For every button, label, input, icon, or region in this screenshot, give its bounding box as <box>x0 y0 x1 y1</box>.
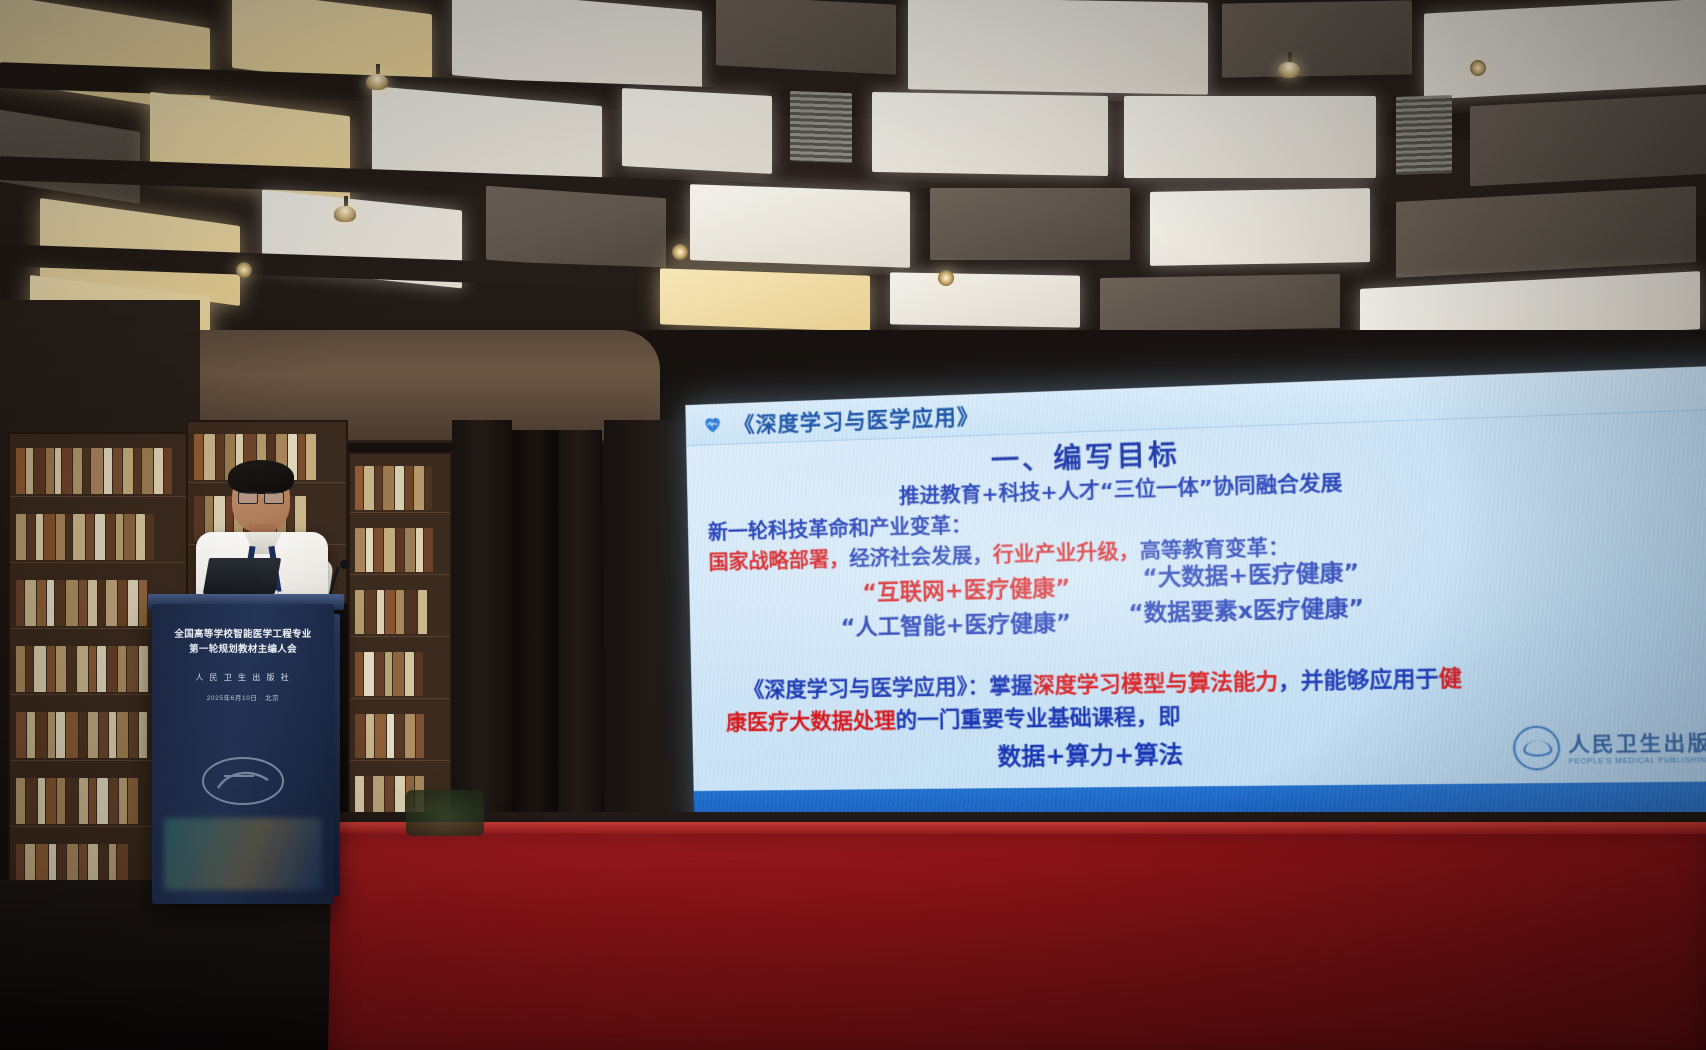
slide-line-5: “大数据+医疗健康” <box>1142 554 1359 593</box>
wall-column <box>556 430 602 850</box>
ceiling-panel <box>1150 188 1370 266</box>
books-row <box>16 448 180 494</box>
ceiling-panel <box>486 186 666 273</box>
slide-line-8d: 健 <box>1438 665 1462 691</box>
ceiling-panel <box>660 268 870 331</box>
wall-column <box>604 420 696 860</box>
light-stem <box>376 64 380 74</box>
downlight-icon <box>672 244 688 260</box>
podium: 全国高等学校智能医学工程专业 第一轮规划教材主编人会 人 民 卫 生 出 版 社… <box>152 604 334 904</box>
slide-line-7: “数据要素x医疗健康” <box>1128 589 1364 627</box>
podium-graphic-glow <box>164 818 322 890</box>
slide-line-3c: 行业产业升级， <box>993 539 1140 568</box>
slide-line-1: 推进教育+科技+人才“三位一体”协同融合发展 <box>899 466 1343 510</box>
ceiling-panel <box>622 88 772 174</box>
ceiling-panel <box>1100 274 1340 332</box>
ceiling <box>0 0 1706 380</box>
ceiling-panel <box>716 0 896 75</box>
podium-banner-line-1: 全国高等学校智能医学工程专业 <box>162 626 324 640</box>
slide-line-6: “人工智能+医疗健康” <box>840 604 1071 642</box>
heart-medical-icon <box>701 413 723 436</box>
slide-line-9a: 康医疗大数据处理 <box>726 708 896 735</box>
downlight-icon <box>236 262 252 278</box>
spotlight-icon <box>1278 62 1300 78</box>
ceiling-vent <box>790 91 852 163</box>
ceiling-vent <box>1396 95 1452 175</box>
slide-line-8c: ，并能够应用于 <box>1278 666 1439 694</box>
presentation-slide: 《深度学习与医学应用》 一、编写目标 推进教育+科技+人才“三位一体”协同融合发… <box>685 364 1706 835</box>
spotlight-icon <box>366 74 388 90</box>
projection-screen: 《深度学习与医学应用》 一、编写目标 推进教育+科技+人才“三位一体”协同融合发… <box>685 364 1706 835</box>
conference-photo-scene: 《深度学习与医学应用》 一、编写目标 推进教育+科技+人才“三位一体”协同融合发… <box>0 0 1706 1050</box>
pmph-logo-icon <box>1513 725 1561 770</box>
glasses-icon <box>238 492 284 502</box>
ceiling-panel <box>890 272 1080 327</box>
ceiling-panel <box>1222 0 1412 77</box>
podium-banner-date: 2025年6月10日 · 北京 <box>162 692 324 702</box>
ceiling-panel <box>930 188 1130 260</box>
slide-line-3b: 经济社会发展， <box>849 543 993 571</box>
stage-plant <box>406 790 484 836</box>
light-stem <box>344 196 348 206</box>
downlight-icon <box>1470 60 1486 76</box>
podium-banner-publisher: 人 民 卫 生 出 版 社 <box>162 672 324 683</box>
ceiling-panel <box>1470 94 1706 187</box>
ceiling-panel <box>690 184 910 268</box>
spotlight-icon <box>334 206 356 222</box>
wall-column <box>452 420 512 850</box>
publisher-logo: 人民卫生出版社 PEOPLE'S MEDICAL PUBLISHING HOUS… <box>1513 723 1706 771</box>
downlight-icon <box>938 270 954 286</box>
laptop <box>203 558 281 594</box>
side-door <box>512 430 558 850</box>
ceiling-panel <box>872 92 1108 176</box>
slide-line-4: “互联网+医疗健康” <box>862 569 1071 607</box>
microphone-icon <box>340 560 349 569</box>
slide-line-8: 《深度学习与医学应用》：掌握深度学习模型与算法能力，并能够应用于健 <box>743 661 1462 704</box>
light-stem <box>1288 52 1292 62</box>
carpet-edge <box>330 822 1706 834</box>
slide-line-9: 康医疗大数据处理的一门重要专业基础课程，即 <box>726 699 1181 736</box>
red-carpet <box>328 822 1706 1050</box>
slide-line-8a: 《深度学习与医学应用》：掌握 <box>743 673 1033 702</box>
publisher-name-en: PEOPLE'S MEDICAL PUBLISHING HOUSE <box>1569 756 1706 765</box>
slide-line-8b: 深度学习模型与算法能力 <box>1033 669 1279 698</box>
speaker-hair <box>228 460 294 494</box>
ceiling-panel <box>1396 186 1696 278</box>
publisher-name-cn: 人民卫生出版社 <box>1568 727 1706 758</box>
ceiling-panel <box>1124 96 1376 178</box>
slide-line-10: 数据+算力+算法 <box>997 735 1183 772</box>
slide-line-9b: 的一门重要专业基础课程，即 <box>895 704 1180 733</box>
ceiling-panel <box>1424 0 1706 100</box>
podium-banner-line-2: 第一轮规划教材主编人会 <box>162 641 324 655</box>
pmph-emblem-icon <box>198 754 288 808</box>
slide-line-3a: 国家战略部署， <box>708 547 849 575</box>
ceiling-panel <box>908 0 1208 95</box>
